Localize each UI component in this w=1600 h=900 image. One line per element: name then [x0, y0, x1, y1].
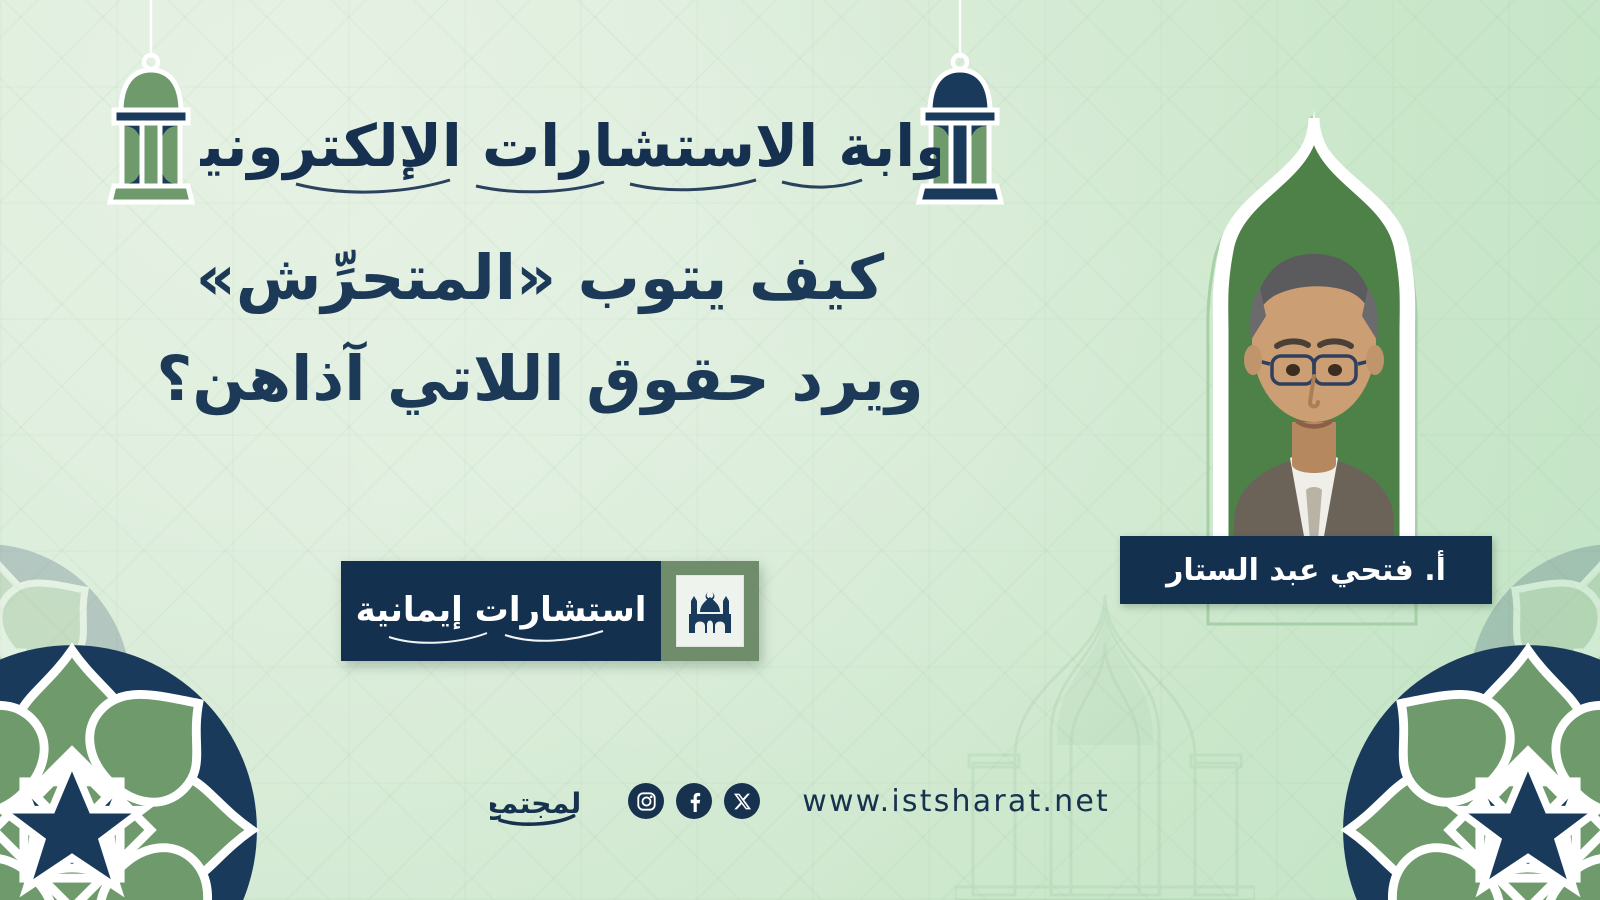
category-banner-label: استشارات إيمانية	[356, 590, 647, 630]
headline-line-1: كيف يتوب «المتحرِّش»	[140, 236, 940, 319]
category-calligraphy-artwork: استشارات إيمانية	[341, 561, 661, 661]
social-links	[628, 783, 760, 819]
corner-rosette-bottom-right	[1338, 640, 1600, 900]
corner-rosette-bottom-left	[0, 640, 262, 900]
instagram-icon[interactable]	[628, 783, 664, 819]
website-url[interactable]: www.istsharat.net	[802, 784, 1110, 819]
speaker-photo	[1223, 118, 1405, 592]
category-icon-tile	[676, 575, 744, 647]
speaker-name: أ. فتحي عبد الستار	[1166, 553, 1446, 588]
mosque-icon	[685, 585, 735, 637]
lantern-icon-left	[96, 0, 206, 215]
x-twitter-icon[interactable]	[724, 783, 760, 819]
speaker-name-badge: أ. فتحي عبد الستار	[1120, 536, 1492, 604]
mihrab-arch-watermark	[955, 595, 1255, 900]
category-icon-frame	[661, 561, 759, 661]
x-glyph	[733, 792, 752, 811]
category-banner[interactable]: استشارات إيمانية	[341, 561, 759, 661]
portal-calligraphy-text: بوابة الاستشارات الإلكترونية	[200, 112, 940, 181]
facebook-glyph	[684, 791, 705, 812]
poster-canvas: بوابة الاستشارات الإلكترونية كيف يتوب «ا…	[0, 0, 1600, 900]
facebook-icon[interactable]	[676, 783, 712, 819]
portal-calligraphy-artwork: بوابة الاستشارات الإلكترونية	[200, 62, 940, 212]
headline-line-2: ويرد حقوق اللاتي آذاهن؟	[140, 337, 940, 420]
headline: كيف يتوب «المتحرِّش» ويرد حقوق اللاتي آذ…	[140, 236, 940, 420]
portrait-arch-frame	[1114, 92, 1514, 592]
magazine-logo: المجتمع	[490, 762, 582, 840]
footer-bar: المجتمع www.istsharat	[490, 762, 1110, 840]
instagram-glyph	[636, 791, 657, 812]
category-banner-text-panel: استشارات إيمانية	[341, 561, 661, 661]
portal-calligraphy-title: بوابة الاستشارات الإلكترونية	[200, 62, 940, 212]
magazine-logo-text: المجتمع	[490, 787, 582, 820]
